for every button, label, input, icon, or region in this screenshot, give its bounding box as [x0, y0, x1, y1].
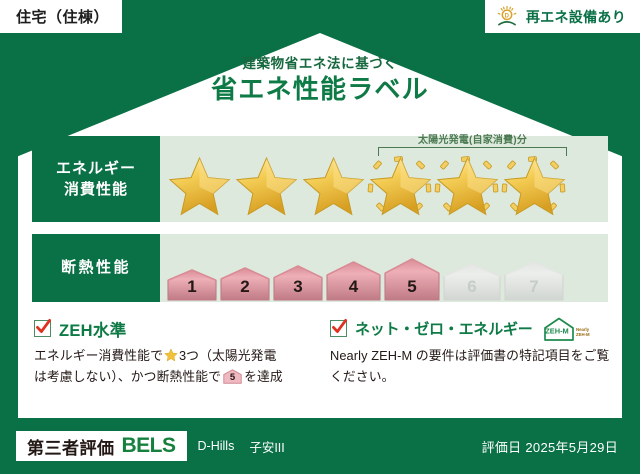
zeh-standard-title: ZEH水準 — [59, 317, 127, 341]
footer-bar: 第三者評価 BELS D-Hills 子安III 評価日 2025年5月29日 — [0, 418, 640, 474]
insulation-level-value: 4 — [325, 278, 382, 295]
inline-badge-value: 5 — [223, 373, 242, 383]
zeh-desc-part3: は考慮しない）、かつ断熱性能で — [34, 369, 221, 384]
page-title: 建築物省エネ法に基づく 省エネ性能ラベル — [0, 57, 640, 107]
energy-star-solar — [367, 155, 434, 219]
third-party-evaluation-label: 第三者評価 — [27, 434, 115, 459]
insulation-level-badge: 4 — [325, 260, 382, 302]
svg-text:ZEH-M: ZEH-M — [576, 332, 590, 337]
insulation-level-badge: 1 — [166, 268, 218, 302]
net-zero-energy-description: Nearly ZEH-M の要件は評価書の特記項目をご覧ください。 — [330, 346, 612, 387]
insulation-performance-row-label: 断熱性能 — [32, 234, 160, 302]
energy-label-line1: エネルギー — [56, 158, 136, 179]
insulation-level-value: 6 — [442, 278, 502, 295]
energy-star — [166, 155, 233, 219]
zeh-m-logo-icon: ZEH-M Nearly ZEH-M — [542, 316, 590, 342]
evaluation-date: 評価日 2025年5月29日 — [482, 437, 618, 456]
insulation-level-badge: 7 — [503, 260, 565, 302]
zeh-standard-checkbox — [34, 320, 51, 337]
zeh-desc-part2: 3つ（太陽光発電 — [179, 348, 277, 363]
zeh-standard-claim: ZEH水準 エネルギー消費性能で3つ（太陽光発電は考慮しない）、かつ断熱性能で5… — [34, 318, 316, 387]
zeh-standard-description: エネルギー消費性能で3つ（太陽光発電は考慮しない）、かつ断熱性能で5を達成 — [34, 346, 316, 387]
insulation-level-value: 7 — [503, 278, 565, 295]
insulation-level-value: 5 — [383, 278, 441, 295]
energy-star-solar — [434, 155, 501, 219]
renewable-badge-label: 再エネ設備あり — [526, 7, 626, 27]
energy-star-solar — [501, 155, 568, 219]
title-main: 省エネ性能ラベル — [0, 72, 640, 107]
insulation-performance-row-body: 1 2 — [160, 234, 608, 302]
insulation-level-badge: 6 — [442, 262, 502, 302]
insulation-level-badge: 3 — [272, 264, 324, 302]
net-zero-energy-claim-header: ネット・ゼロ・エネルギー ZEH-M Nearly ZEH-M — [330, 318, 612, 339]
insulation-level-badge: 2 — [219, 266, 271, 302]
insulation-level-value: 1 — [166, 278, 218, 295]
energy-star-rating — [160, 156, 608, 218]
energy-star — [233, 155, 300, 219]
zeh-standard-claim-header: ZEH水準 — [34, 318, 316, 339]
zeh-desc-part1: エネルギー消費性能で — [34, 348, 163, 363]
insulation-level-scale: 1 2 — [166, 234, 608, 302]
energy-performance-label: 住宅（住棟） D 再エネ設備あり 建築物省エネ法に基づ — [0, 0, 640, 474]
inline-insulation-badge: 5 — [223, 369, 242, 384]
energy-star — [300, 155, 367, 219]
insulation-label: 断熱性能 — [61, 257, 131, 278]
insulation-performance-row: 断熱性能 1 — [32, 234, 608, 302]
renewable-equipment-badge: D 再エネ設備あり — [485, 0, 640, 33]
inline-star-icon — [164, 348, 178, 362]
building-name: 子安III — [249, 437, 284, 456]
bels-mark: BELS — [122, 434, 176, 458]
bels-evaluation-badge: 第三者評価 BELS — [16, 431, 187, 461]
insulation-level-value: 3 — [272, 278, 324, 295]
project-info: D-Hills 子安III — [198, 437, 285, 456]
net-zero-energy-checkbox — [330, 320, 347, 337]
building-type-badge-label: 住宅（住棟） — [16, 6, 109, 27]
zeh-desc-part4: を達成 — [244, 369, 283, 384]
sun-renewable-icon: D — [495, 5, 519, 29]
svg-text:ZEH-M: ZEH-M — [545, 326, 568, 335]
energy-performance-row-label: エネルギー 消費性能 — [32, 136, 160, 222]
solar-generation-annotation: 太陽光発電(自家消費)分 — [374, 134, 571, 156]
energy-performance-row: エネルギー 消費性能 太陽光発電(自家消費)分 — [32, 136, 608, 222]
net-zero-energy-claim: ネット・ゼロ・エネルギー ZEH-M Nearly ZEH-M Nearly Z… — [330, 318, 612, 387]
svg-text:D: D — [505, 13, 510, 19]
insulation-level-badge: 5 — [383, 257, 441, 302]
building-type-badge: 住宅（住棟） — [0, 0, 122, 33]
insulation-level-value: 2 — [219, 278, 271, 295]
net-zero-energy-title: ネット・ゼロ・エネルギー — [355, 318, 533, 339]
project-name: D-Hills — [198, 439, 235, 453]
title-subtitle: 建築物省エネ法に基づく — [0, 57, 640, 72]
energy-performance-row-body: 太陽光発電(自家消費)分 — [160, 136, 608, 222]
energy-label-line2: 消費性能 — [64, 179, 128, 200]
